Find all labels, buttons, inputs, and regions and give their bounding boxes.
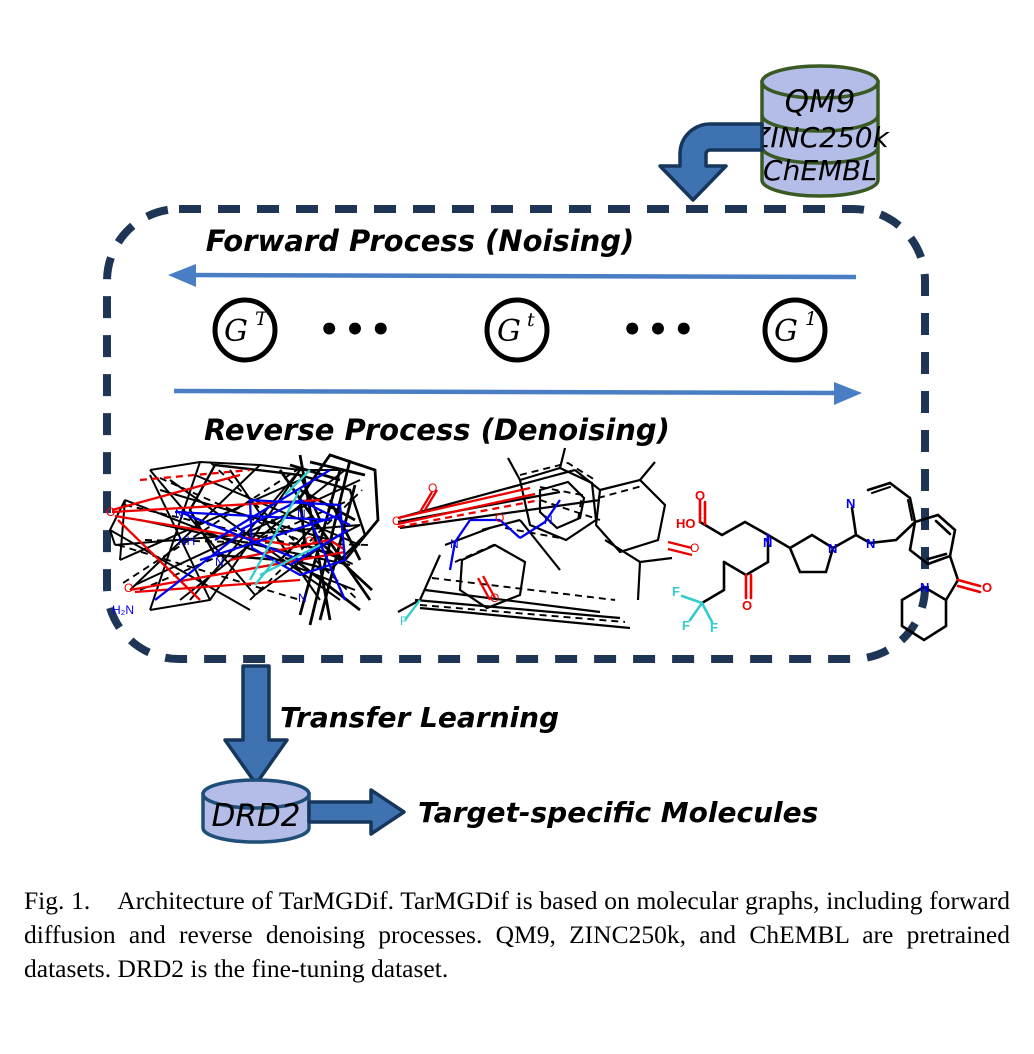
atom-label-NH: NH [178, 534, 195, 548]
atom-label-F: F [672, 584, 680, 599]
node-label-base: G [224, 314, 248, 349]
atom-label-H2N: H₂N [112, 603, 134, 617]
atom-label-O: O [490, 591, 499, 605]
db-section-label-qm9: QM9 [785, 84, 856, 120]
node-label-superscript: 1 [805, 308, 817, 330]
atom-label-N: N [297, 507, 306, 521]
graph-node-G-1: G 1 [765, 300, 825, 360]
atom-label-N: N [920, 580, 929, 595]
pretrain-datasets-cylinder: QM9 ZINC250k ChEMBL [750, 66, 890, 196]
partially-denoised-molecular-graph: O O O O N N O F [392, 448, 699, 628]
target-specific-output-label: Target-specific Molecules [418, 796, 818, 829]
atom-label-O: O [106, 505, 115, 519]
db-section-label-chembl: ChEMBL [763, 154, 877, 187]
transfer-learning-arrow [225, 666, 287, 784]
atom-label-F: F [682, 618, 690, 633]
reverse-process-arrow [174, 382, 862, 405]
atom-label-F: F [710, 620, 718, 635]
atom-label-HO: HO [676, 516, 696, 531]
figure-caption: Fig. 1. Architecture of TarMGDif. TarMGD… [24, 884, 1010, 986]
atom-label-N: N [215, 555, 224, 569]
node-label-base: G [497, 314, 521, 349]
ellipsis-left: ••• [318, 310, 395, 350]
atom-label-O: O [982, 580, 992, 595]
forward-process-arrow [168, 264, 856, 287]
atom-label-O: O [124, 581, 133, 595]
atom-label-N: N [828, 541, 837, 556]
graph-node-G-t: G t [487, 300, 547, 360]
pretrain-feed-arrow [660, 124, 762, 200]
finetune-dataset-cylinder: DRD2 [203, 780, 309, 842]
node-label-superscript: T [255, 308, 269, 330]
atom-label-O: O [695, 488, 705, 503]
atom-label-O: O [495, 511, 504, 525]
finetune-dataset-label: DRD2 [211, 798, 300, 834]
atom-label-O: O [742, 598, 752, 613]
atom-label-N: N [175, 507, 184, 521]
atom-label-O: O [392, 514, 401, 528]
ellipsis-right: ••• [621, 310, 698, 350]
graph-node-G-T: G T [215, 300, 275, 360]
atom-label-N: N [298, 591, 307, 605]
noisy-molecular-graph: O N NH N N O O N H₂N [106, 455, 378, 625]
clean-molecular-graph: HO O N O F F F N N N N O [672, 483, 992, 640]
reverse-arrow-line [174, 391, 840, 393]
atom-label-N: N [544, 513, 553, 527]
forward-arrow-line [188, 275, 856, 277]
atom-label-N: N [846, 496, 855, 511]
atom-label-N: N [450, 537, 459, 551]
architecture-diagram: QM9 ZINC250k ChEMBL Forward Process (Noi… [0, 0, 1034, 880]
caption-body: Architecture of TarMGDif. TarMGDif is ba… [24, 886, 1010, 983]
node-label-superscript: t [527, 309, 535, 331]
caption-figure-number: Fig. 1. [24, 886, 90, 915]
atom-label-O: O [690, 541, 699, 555]
figure-container: QM9 ZINC250k ChEMBL Forward Process (Noi… [0, 0, 1034, 1054]
atom-label-N: N [866, 536, 875, 551]
reverse-process-label: Reverse Process (Denoising) [204, 413, 670, 447]
forward-arrow-head [168, 264, 196, 287]
atom-label-O: O [428, 481, 437, 495]
atom-label-N: N [763, 535, 772, 550]
transfer-learning-label: Transfer Learning [280, 701, 559, 734]
atom-label-F: F [400, 614, 407, 628]
atom-label-O: O [305, 534, 314, 548]
target-output-arrow [309, 790, 404, 834]
db-section-label-zinc250k: ZINC250k [750, 121, 890, 154]
node-label-base: G [774, 314, 798, 349]
feed-arrow-shape [660, 124, 762, 200]
output-arrow-shape [309, 790, 404, 834]
reverse-arrow-head [834, 382, 862, 405]
transfer-arrow-shape [225, 666, 287, 784]
forward-process-label: Forward Process (Noising) [206, 224, 635, 258]
